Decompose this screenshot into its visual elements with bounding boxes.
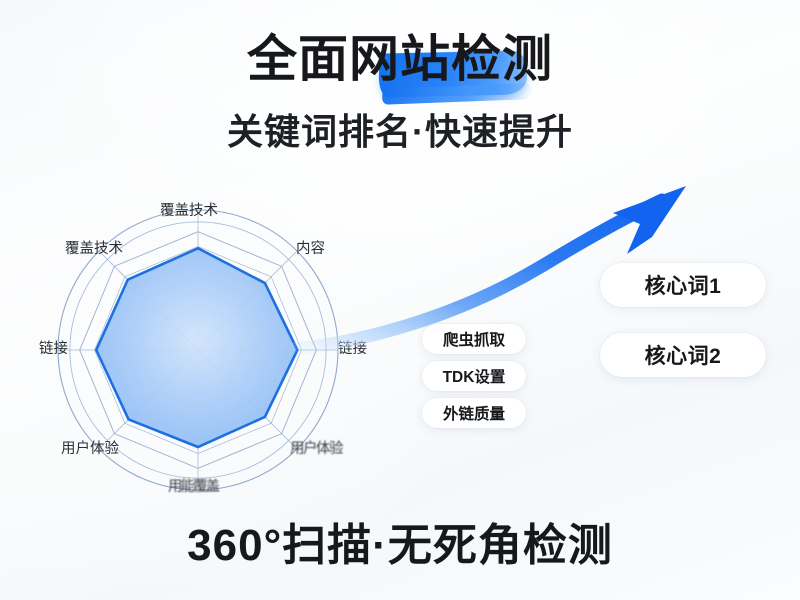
- radar-label-top: 覆盖技术: [160, 204, 218, 219]
- page-subtitle: 关键词排名·快速提升: [0, 114, 800, 150]
- keyword-pill-1-label: 核心词1: [645, 270, 722, 300]
- page-footer-title: 360°扫描·无死角检测: [0, 524, 800, 568]
- radar-label-lower-right: 用户体验: [290, 442, 342, 457]
- keyword-pill-2-label: 核心词2: [645, 340, 722, 370]
- radar-label-lower-left: 用户体验: [61, 442, 119, 457]
- feature-pill-link-label: 外链质量: [443, 402, 505, 424]
- keyword-pill-2[interactable]: 核心词2: [600, 333, 766, 377]
- radar-label-right: 链接: [338, 342, 367, 357]
- page-title-part-1: 全面: [247, 31, 349, 87]
- page-title-part-3: 检测: [451, 31, 553, 87]
- radar-label-bottom: 用能覆盖: [168, 480, 218, 495]
- radar-label-upper-right: 内容: [296, 242, 325, 257]
- feature-pill-crawl-label: 爬虫抓取: [443, 328, 505, 350]
- radar-label-left: 链接: [39, 342, 68, 357]
- feature-pill-tdk[interactable]: TDK设置: [422, 361, 526, 391]
- radar-chart: 覆盖技术 内容 链接 用户体验 用能覆盖 用户体验 链接 覆盖技术: [18, 190, 378, 510]
- poster-canvas: 全面网站检测 关键词排名·快速提升 覆盖技术 内容 链接: [0, 0, 800, 600]
- radar-chart-svg: [18, 190, 378, 510]
- radar-label-upper-left: 覆盖技术: [65, 242, 123, 257]
- arrow-head: [613, 186, 686, 254]
- feature-pill-crawl[interactable]: 爬虫抓取: [422, 324, 526, 354]
- feature-pill-tdk-label: TDK设置: [443, 365, 506, 387]
- feature-pill-link[interactable]: 外链质量: [422, 398, 526, 428]
- page-title-part-2: 网站: [349, 31, 451, 87]
- keyword-pill-1[interactable]: 核心词1: [600, 263, 766, 307]
- page-title: 全面网站检测: [247, 34, 553, 84]
- title-block: 全面网站检测: [0, 34, 800, 84]
